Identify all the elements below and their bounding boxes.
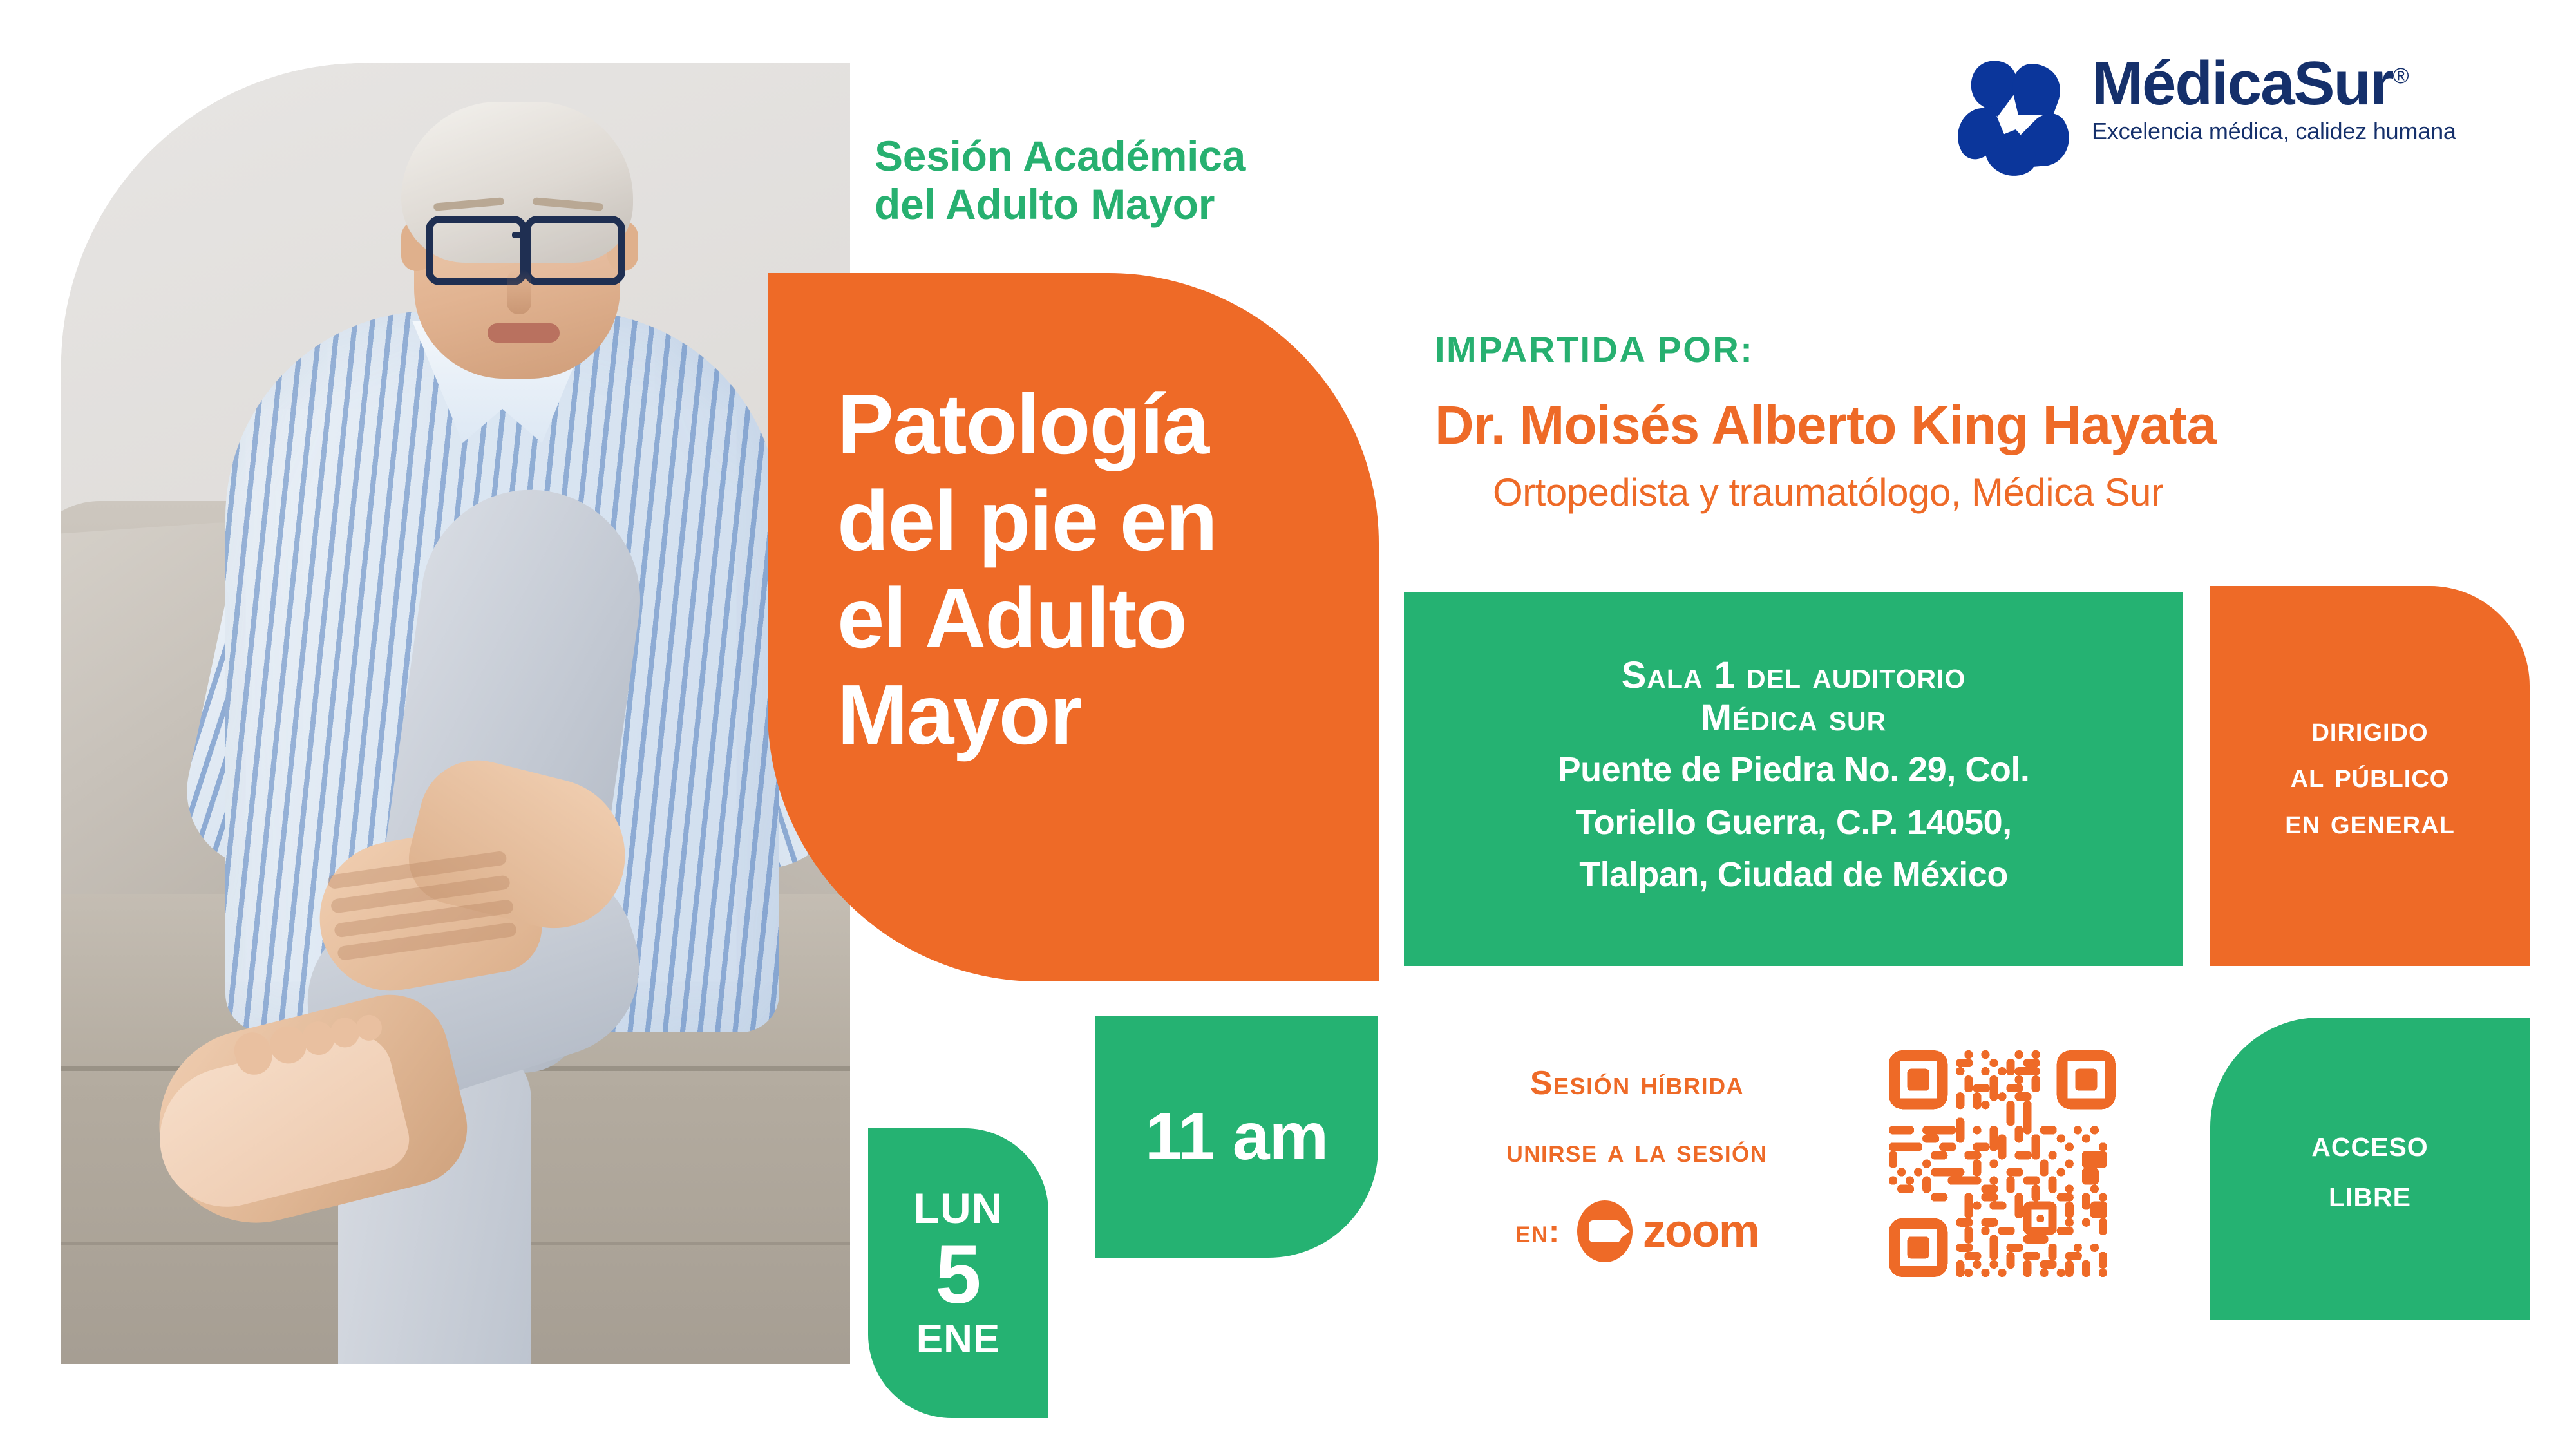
title-line-2: del pie en <box>837 473 1332 569</box>
zoom-camera-icon <box>1577 1200 1633 1262</box>
audience-box: Dirigido al público en general <box>2210 586 2530 966</box>
access-box: Acceso libre <box>2210 1018 2530 1320</box>
title-line-3: el Adulto <box>837 570 1332 667</box>
medica-sur-wordmark-group: MédicaSur® Excelencia médica, calidez hu… <box>2092 52 2456 145</box>
venue-room-line-2: Médica Sur <box>1430 697 2157 739</box>
hybrid-platform-row: en: zoom <box>1431 1200 1843 1262</box>
hero-photo <box>61 63 850 1364</box>
registered-mark: ® <box>2392 64 2407 88</box>
kicker-line-2: del Adulto Mayor <box>875 180 1454 229</box>
event-title-panel: Patología del pie en el Adulto Mayor <box>768 273 1379 981</box>
title-line-4: Mayor <box>837 667 1332 763</box>
venue-address-line-2: Toriello Guerra, C.P. 14050, <box>1430 801 2157 845</box>
event-time: 11 am <box>1145 1099 1328 1175</box>
medica-sur-tagline: Excelencia médica, calidez humana <box>2092 118 2456 145</box>
access-text-group: Acceso libre <box>2311 1119 2428 1220</box>
qr-code-join-session[interactable] <box>1880 1042 2124 1285</box>
medica-sur-logo: MédicaSur® Excelencia médica, calidez hu… <box>1951 52 2518 180</box>
date-day-of-week: LUN <box>914 1187 1003 1229</box>
hybrid-line-2: unirse a la sesión <box>1431 1132 1843 1170</box>
medica-sur-wordmark: MédicaSur® <box>2092 52 2456 117</box>
access-line-1: Acceso <box>2311 1119 2428 1169</box>
speaker-role: Ortopedista y traumatólogo, Médica Sur <box>1493 470 2497 515</box>
hybrid-line-1: Sesión híbrida <box>1431 1064 1843 1103</box>
hybrid-prefix: en: <box>1515 1213 1560 1250</box>
speaker-label: IMPARTIDA POR: <box>1435 328 1754 370</box>
audience-line-2: al público <box>2285 753 2455 799</box>
hybrid-session-block: Sesión híbrida unirse a la sesión en: zo… <box>1431 1064 1843 1262</box>
event-series-kicker: Sesión Académica del Adulto Mayor <box>875 132 1454 228</box>
event-time-badge: 11 am <box>1095 1016 1378 1258</box>
venue-address-line-3: Tlalpan, Ciudad de México <box>1430 853 2157 897</box>
venue-address-line-1: Puente de Piedra No. 29, Col. <box>1430 748 2157 792</box>
access-line-2: libre <box>2311 1169 2428 1219</box>
kicker-line-1: Sesión Académica <box>875 132 1454 180</box>
audience-line-3: en general <box>2285 799 2455 846</box>
zoom-logo[interactable]: zoom <box>1577 1200 1759 1262</box>
event-date-badge: LUN 5 ENE <box>868 1128 1048 1418</box>
audience-line-1: Dirigido <box>2285 706 2455 753</box>
photo-mouth <box>488 323 560 343</box>
audience-text-group: Dirigido al público en general <box>2285 706 2455 845</box>
photo-eyeglass-lens-right <box>524 216 625 285</box>
date-day-number: 5 <box>935 1232 981 1318</box>
page-title: Patología del pie en el Adulto Mayor <box>837 376 1332 764</box>
venue-room-line-1: Sala 1 del Auditorio <box>1430 654 2157 697</box>
medica-sur-petals-icon <box>1951 55 2074 177</box>
venue-box: Sala 1 del Auditorio Médica Sur Puente d… <box>1404 592 2183 966</box>
photo-nose <box>507 269 531 314</box>
title-line-1: Patología <box>837 376 1332 473</box>
date-month: ENE <box>916 1320 1000 1359</box>
zoom-wordmark: zoom <box>1643 1208 1759 1255</box>
wordmark-text: MédicaSur <box>2092 49 2392 118</box>
speaker-name: Dr. Moisés Alberto King Hayata <box>1435 394 2543 457</box>
photo-eyeglass-bridge <box>512 232 526 238</box>
